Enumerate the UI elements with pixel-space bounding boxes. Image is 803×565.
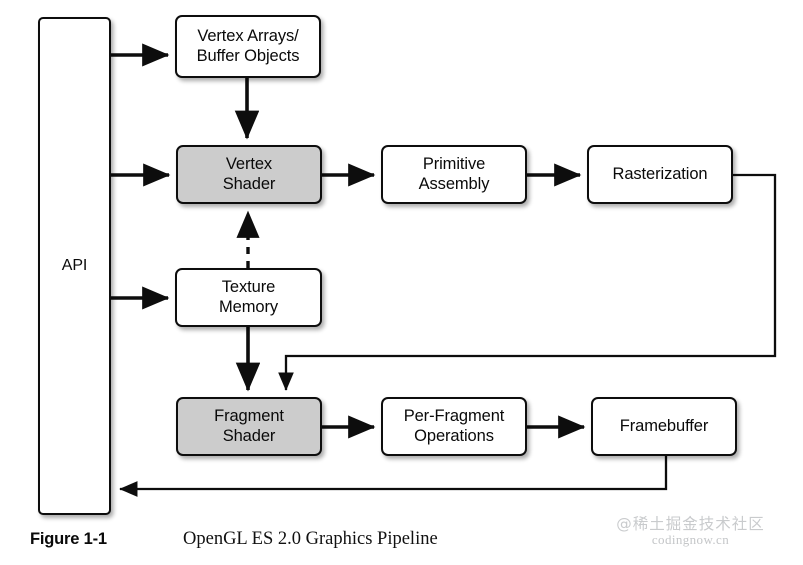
node-per-fragment-operations-label: Per-Fragment Operations <box>404 407 505 446</box>
node-primitive-assembly[interactable]: Primitive Assembly <box>381 145 527 204</box>
figure-page: API Vertex Arrays/ Buffer Objects Vertex… <box>0 0 803 565</box>
node-per-fragment-operations[interactable]: Per-Fragment Operations <box>381 397 527 456</box>
figure-title: OpenGL ES 2.0 Graphics Pipeline <box>183 529 438 550</box>
node-vertex-arrays-label: Vertex Arrays/ Buffer Objects <box>197 27 300 66</box>
node-rasterization-label: Rasterization <box>613 165 708 184</box>
node-vertex-shader-label: Vertex Shader <box>223 155 276 194</box>
edge-rasterization-to-fragment-shader <box>286 175 775 390</box>
node-framebuffer-label: Framebuffer <box>620 417 708 436</box>
node-api[interactable]: API <box>38 17 111 515</box>
node-fragment-shader-label: Fragment Shader <box>214 407 284 446</box>
figure-caption: Figure 1-1 OpenGL ES 2.0 Graphics Pipeli… <box>0 524 803 565</box>
node-vertex-arrays[interactable]: Vertex Arrays/ Buffer Objects <box>175 15 321 78</box>
edge-framebuffer-to-api <box>120 456 666 489</box>
node-primitive-assembly-label: Primitive Assembly <box>419 155 490 194</box>
node-framebuffer[interactable]: Framebuffer <box>591 397 737 456</box>
node-vertex-shader[interactable]: Vertex Shader <box>176 145 322 204</box>
node-rasterization[interactable]: Rasterization <box>587 145 733 204</box>
node-api-label: API <box>62 257 88 276</box>
node-texture-memory[interactable]: Texture Memory <box>175 268 322 327</box>
figure-number: Figure 1-1 <box>30 530 107 549</box>
node-fragment-shader[interactable]: Fragment Shader <box>176 397 322 456</box>
node-texture-memory-label: Texture Memory <box>219 278 278 317</box>
